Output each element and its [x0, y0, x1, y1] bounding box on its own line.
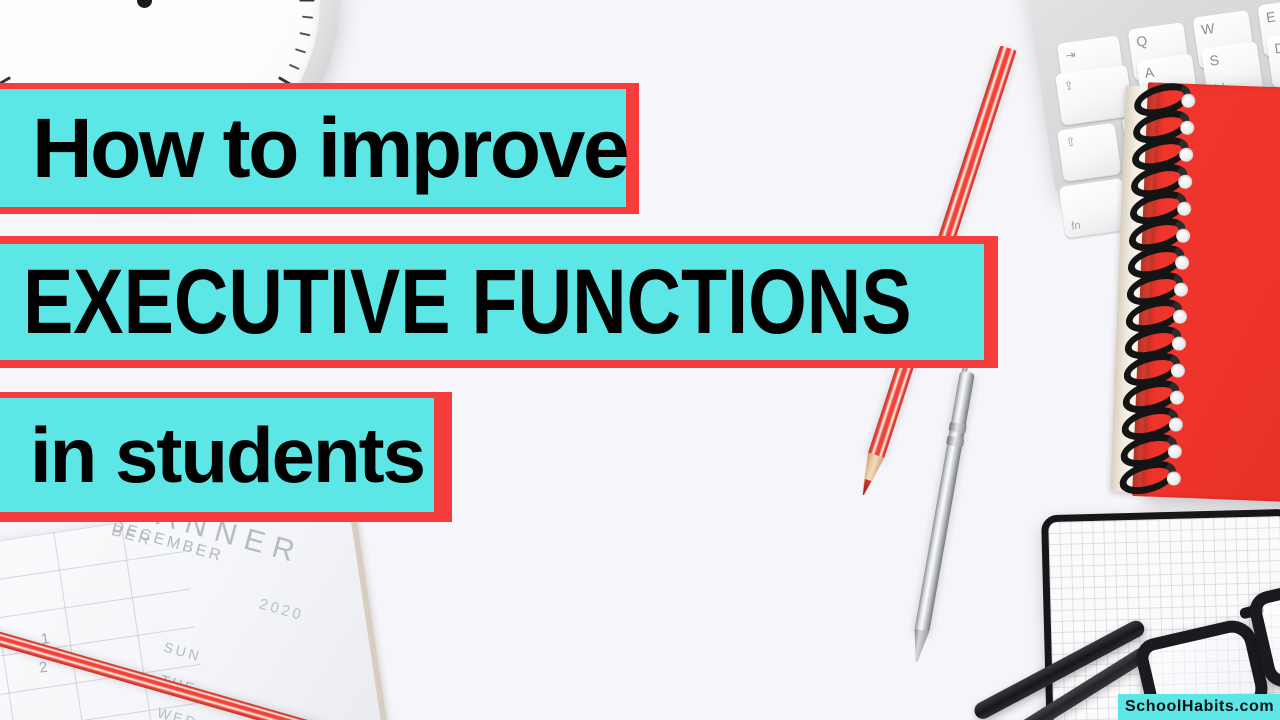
site-watermark: SchoolHabits.com: [1118, 694, 1280, 720]
clock-tick: [299, 32, 310, 36]
headline-block-line3-fill: in students: [0, 398, 434, 512]
clock-tick: [299, 0, 314, 2]
headline-text-line2: EXECUTIVE FUNCTIONS: [0, 256, 912, 348]
key-capslock: ⇪: [1055, 64, 1134, 126]
watermark-label: SchoolHabits.com: [1125, 698, 1274, 716]
key-shift: ⇧: [1057, 123, 1122, 183]
poster-canvas: 12 1 2 10 11 ⇥ Q Й W Ц E У ⇪ A: [0, 0, 1280, 720]
red-spiral-notebook: [1124, 82, 1280, 504]
spiral-hole: [1167, 471, 1182, 486]
headline-block-line1: How to improve: [0, 83, 639, 214]
chrome-pen: [914, 371, 975, 634]
spiral-hole: [1172, 336, 1187, 351]
spiral-hole: [1168, 444, 1183, 459]
pencil-lead: [860, 479, 872, 496]
spiral-hole: [1171, 363, 1186, 378]
planner-year: 2020: [257, 596, 305, 625]
clock-tick: [302, 16, 313, 19]
spiral-hole: [1180, 121, 1195, 136]
spiral-hole: [1177, 201, 1192, 216]
clock-center-pin: [137, 0, 152, 8]
key-fn: fn: [1059, 178, 1130, 238]
spiral-hole: [1170, 390, 1185, 405]
clock-tick: [289, 64, 300, 70]
spiral-hole: [1175, 255, 1190, 270]
headline-block-line2: EXECUTIVE FUNCTIONS: [0, 236, 998, 368]
spiral-hole: [1181, 94, 1196, 109]
headline-text-line3: in students: [0, 416, 424, 494]
spiral-hole: [1176, 228, 1191, 243]
spiral-hole: [1178, 174, 1193, 189]
headline-text-line1: How to improve: [0, 106, 627, 190]
clock-tick: [295, 48, 306, 53]
pen-tip: [909, 629, 929, 663]
paper-planner: 2 3 4 5 6 5 6 1 2 BER DECEMBER PLANNER 2…: [0, 488, 384, 720]
spiral-hole: [1173, 309, 1188, 324]
spiral-hole: [1169, 417, 1184, 432]
headline-block-line1-fill: How to improve: [0, 89, 626, 207]
spiral-hole: [1179, 147, 1194, 162]
headline-block-line2-fill: EXECUTIVE FUNCTIONS: [0, 244, 984, 360]
planner-page: 2 3 4 5 6 5 6 1 2 BER DECEMBER PLANNER 2…: [0, 488, 384, 720]
headline-block-line3: in students: [0, 392, 452, 522]
pencil-wood-tip: [855, 452, 884, 497]
key-d: D В: [1266, 29, 1280, 88]
spiral-hole: [1174, 282, 1189, 297]
